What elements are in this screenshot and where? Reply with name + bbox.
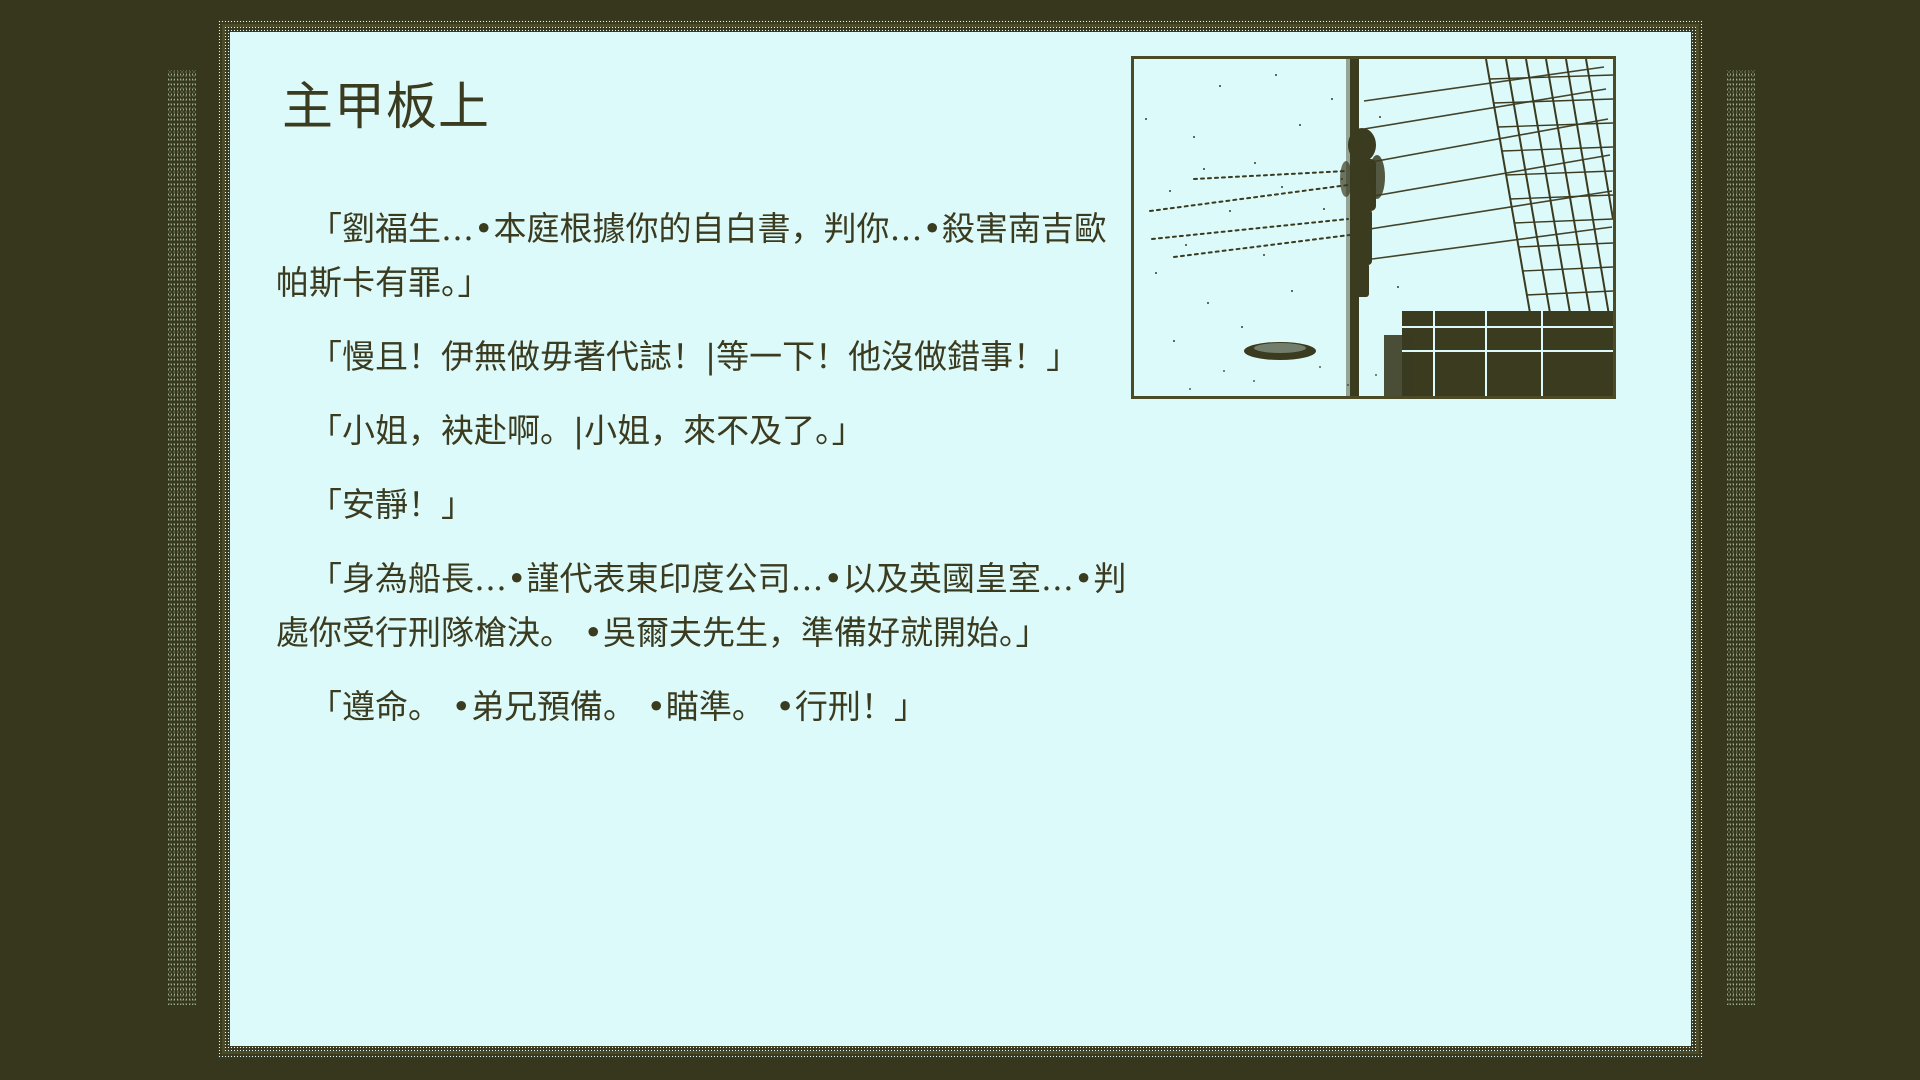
right-texture-strip	[1727, 70, 1755, 1005]
dialogue-paragraph: 「身為船長…•謹代表東印度公司…•以及英國皇室…•判處你受行刑隊槍決。 •吳爾夫…	[276, 552, 1136, 660]
illustration-frame	[1131, 56, 1616, 399]
screen: 主甲板上 「劉福生…•本庭根據你的自白書，判你…•殺害南吉歐帕斯卡有罪。」 「慢…	[0, 0, 1920, 1080]
page-title: 主甲板上	[282, 80, 490, 136]
dialogue-paragraph: 「劉福生…•本庭根據你的自白書，判你…•殺害南吉歐帕斯卡有罪。」	[276, 202, 1136, 310]
dialogue-paragraph: 「安靜！」	[276, 478, 1136, 532]
dialogue-block: 「劉福生…•本庭根據你的自白書，判你…•殺害南吉歐帕斯卡有罪。」 「慢且！伊無做…	[276, 202, 1136, 754]
dialogue-paragraph: 「遵命。 •弟兄預備。 •瞄準。 •行刑！」	[276, 680, 1136, 734]
ship-rigging-illustration	[1134, 59, 1613, 396]
page-surface: 主甲板上 「劉福生…•本庭根據你的自白書，判你…•殺害南吉歐帕斯卡有罪。」 「慢…	[230, 32, 1691, 1046]
left-texture-strip	[168, 70, 196, 1005]
dialogue-paragraph: 「慢且！伊無做毋著代誌！|等一下！他沒做錯事！」	[276, 330, 1136, 384]
dialogue-paragraph: 「小姐，袂赴啊。|小姐，來不及了。」	[276, 404, 1136, 458]
